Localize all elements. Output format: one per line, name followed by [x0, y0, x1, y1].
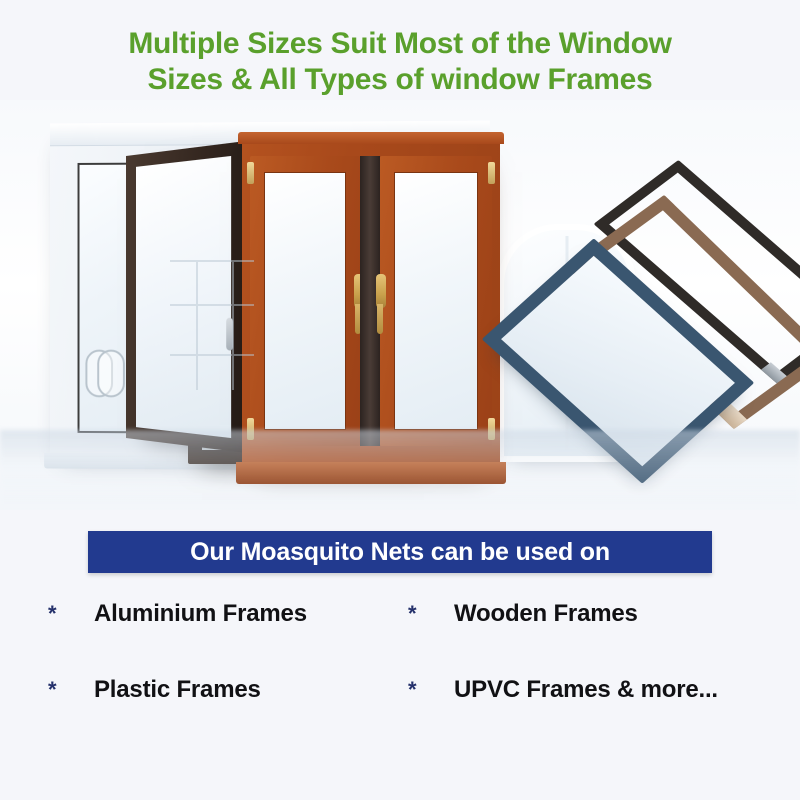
list-item-label: UPVC Frames & more... [454, 676, 718, 704]
wood-sash-left-glass [264, 172, 346, 430]
wood-sash-right-glass [394, 172, 478, 430]
wood-sash-right [380, 156, 492, 446]
wooden-casement-window [242, 140, 500, 470]
door-handle-inner-icon [97, 350, 125, 398]
asterisk-bullet-icon: * [408, 679, 454, 701]
frame-types-list: * Aluminium Frames * Wooden Frames * Pla… [0, 600, 800, 704]
gold-handle-icon [376, 274, 386, 308]
hinge-icon [247, 162, 254, 184]
page-title: Multiple Sizes Suit Most of the Window S… [50, 26, 750, 98]
floor-reflection [0, 430, 800, 510]
section-banner-text: Our Moasquito Nets can be used on [190, 538, 610, 567]
list-item: * UPVC Frames & more... [0, 676, 800, 704]
section-banner: Our Moasquito Nets can be used on [88, 531, 712, 573]
page-title-line-2: Sizes & All Types of window Frames [50, 62, 750, 98]
wood-sash-left [250, 156, 360, 446]
glass-reflection-grid [170, 260, 254, 390]
asterisk-bullet-icon: * [408, 603, 454, 625]
wood-head-rail [238, 132, 504, 144]
hero-product-image [0, 100, 800, 510]
hinge-icon [488, 162, 495, 184]
promo-page: Multiple Sizes Suit Most of the Window S… [0, 0, 800, 800]
list-item-label: Wooden Frames [454, 600, 638, 628]
page-title-line-1: Multiple Sizes Suit Most of the Window [50, 26, 750, 62]
list-item: * Wooden Frames [0, 600, 800, 628]
